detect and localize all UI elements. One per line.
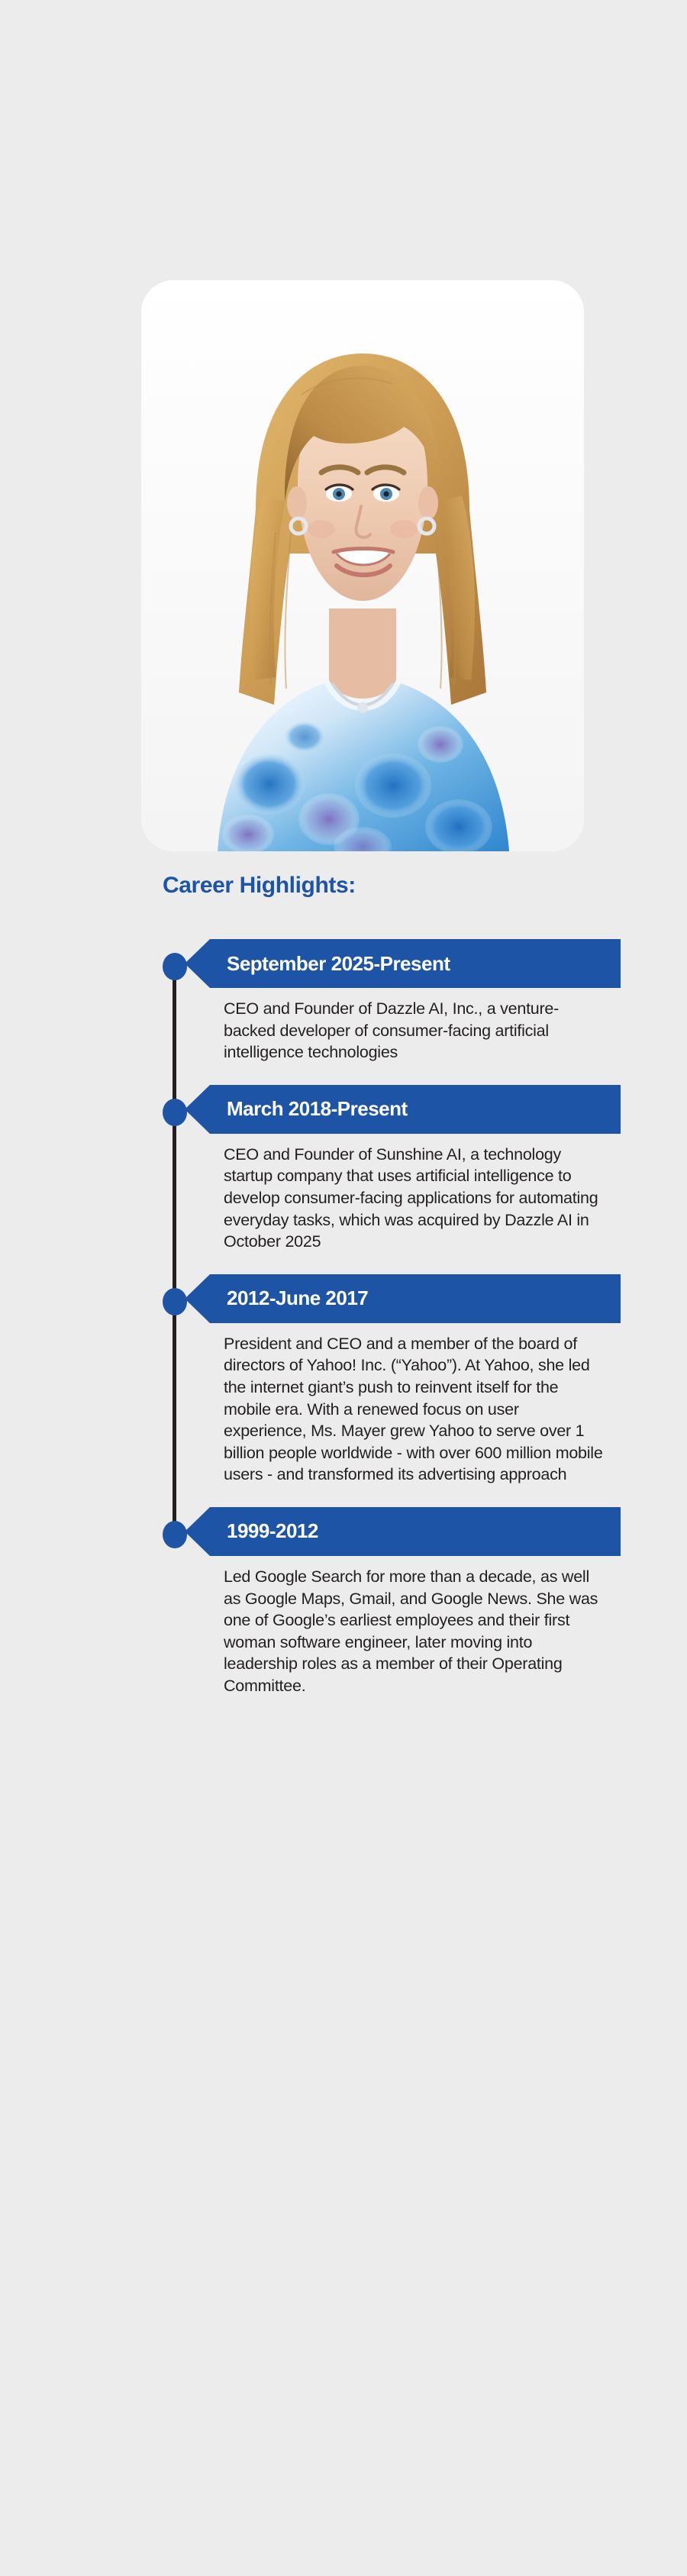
timeline-date-label: September 2025-Present — [210, 952, 450, 976]
timeline-node-dot-icon — [163, 1099, 187, 1126]
timeline-node-dot-icon — [163, 1521, 187, 1548]
timeline-date-label: March 2018-Present — [210, 1097, 408, 1121]
portrait-photo — [141, 280, 584, 851]
timeline-description: CEO and Founder of Sunshine AI, a techno… — [224, 1134, 605, 1274]
timeline-date-label: 1999-2012 — [210, 1519, 318, 1543]
timeline-description-text: President and CEO and a member of the bo… — [224, 1333, 605, 1486]
timeline-date-banner[interactable]: September 2025-Present — [210, 939, 621, 988]
timeline-description: President and CEO and a member of the bo… — [224, 1323, 605, 1507]
timeline-description: Led Google Search for more than a decade… — [224, 1556, 605, 1719]
career-timeline: September 2025-Present CEO and Founder o… — [163, 939, 636, 1718]
timeline-description-text: CEO and Founder of Sunshine AI, a techno… — [224, 1144, 605, 1253]
timeline-date-banner[interactable]: 2012-June 2017 — [210, 1274, 621, 1323]
timeline-node-dot-icon — [163, 1288, 187, 1315]
timeline-date-banner[interactable]: March 2018-Present — [210, 1085, 621, 1134]
timeline-description: CEO and Founder of Dazzle AI, Inc., a ve… — [224, 988, 605, 1085]
timeline-node-dot-icon — [163, 953, 187, 980]
timeline-entry: 2012-June 2017 President and CEO and a m… — [163, 1274, 636, 1507]
timeline-entry: March 2018-Present CEO and Founder of Su… — [163, 1085, 636, 1274]
timeline-entry: 1999-2012 Led Google Search for more tha… — [163, 1507, 636, 1719]
timeline-entry: September 2025-Present CEO and Founder o… — [163, 939, 636, 1085]
page-title: Career Highlights: — [163, 873, 356, 899]
timeline-date-label: 2012-June 2017 — [210, 1286, 368, 1310]
timeline-date-banner[interactable]: 1999-2012 — [210, 1507, 621, 1556]
timeline-description-text: Led Google Search for more than a decade… — [224, 1566, 605, 1697]
timeline-description-text: CEO and Founder of Dazzle AI, Inc., a ve… — [224, 998, 605, 1064]
portrait-card — [141, 280, 584, 851]
